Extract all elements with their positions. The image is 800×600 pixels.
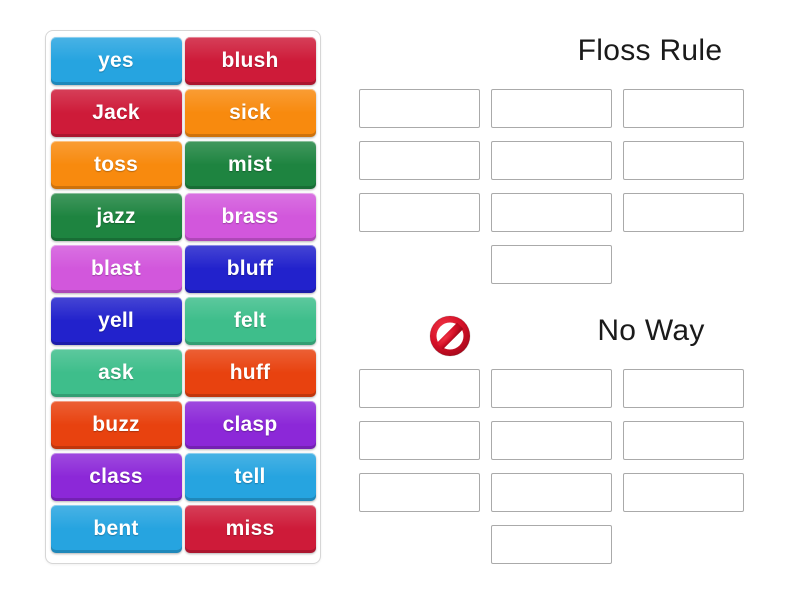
drop-slot-floss-1[interactable] <box>359 89 480 128</box>
word-tile[interactable]: mist <box>185 141 316 189</box>
drop-slot-noway-4[interactable] <box>359 421 480 460</box>
word-tile[interactable]: bent <box>51 505 182 553</box>
word-tile[interactable]: tell <box>185 453 316 501</box>
drop-slot-noway-7[interactable] <box>359 473 480 512</box>
activity-stage: yesblushJacksicktossmistjazzbrassblastbl… <box>0 0 800 600</box>
word-tile[interactable]: miss <box>185 505 316 553</box>
word-tile-label: felt <box>234 309 266 333</box>
drop-slot-floss-5[interactable] <box>491 141 612 180</box>
drop-slot-floss-7[interactable] <box>359 193 480 232</box>
drop-slot-noway-5[interactable] <box>491 421 612 460</box>
word-tile-label: brass <box>221 205 278 229</box>
word-tile-label: yes <box>98 49 134 73</box>
drop-slot-floss-8[interactable] <box>491 193 612 232</box>
word-tile-label: huff <box>230 361 270 385</box>
drop-slot-noway-1[interactable] <box>359 369 480 408</box>
word-tile[interactable]: clasp <box>185 401 316 449</box>
drop-slot-noway-9[interactable] <box>623 473 744 512</box>
word-tile-label: blush <box>222 49 279 73</box>
group-title-floss-rule: Floss Rule <box>400 34 800 68</box>
word-tile-label: buzz <box>92 413 139 437</box>
word-tile[interactable]: class <box>51 453 182 501</box>
group-title-no-way: No Way <box>401 314 800 348</box>
word-tile-label: yell <box>98 309 134 333</box>
word-tile-label: jazz <box>96 205 135 229</box>
drop-slot-floss-6[interactable] <box>623 141 744 180</box>
word-tile-label: class <box>89 465 143 489</box>
word-tile-label: ask <box>98 361 134 385</box>
drop-slot-noway-8[interactable] <box>491 473 612 512</box>
word-tile-label: sick <box>229 101 271 125</box>
drop-slot-floss-9[interactable] <box>623 193 744 232</box>
word-tile[interactable]: buzz <box>51 401 182 449</box>
word-tile-label: miss <box>226 517 275 541</box>
word-tile-label: toss <box>94 153 138 177</box>
word-tiles-tray: yesblushJacksicktossmistjazzbrassblastbl… <box>45 30 321 564</box>
drop-slot-floss-3[interactable] <box>623 89 744 128</box>
word-tile[interactable]: yes <box>51 37 182 85</box>
word-tile[interactable]: sick <box>185 89 316 137</box>
word-tile-label: blast <box>91 257 141 281</box>
word-tile[interactable]: toss <box>51 141 182 189</box>
word-tile[interactable]: Jack <box>51 89 182 137</box>
word-tile[interactable]: felt <box>185 297 316 345</box>
drop-slot-noway-10[interactable] <box>491 525 612 564</box>
drop-slot-floss-4[interactable] <box>359 141 480 180</box>
drop-slot-noway-6[interactable] <box>623 421 744 460</box>
word-tile-label: bent <box>93 517 138 541</box>
drop-slot-floss-10[interactable] <box>491 245 612 284</box>
word-tile-label: clasp <box>223 413 278 437</box>
word-tile-label: mist <box>228 153 272 177</box>
word-tile[interactable]: blush <box>185 37 316 85</box>
word-tile-label: tell <box>234 465 265 489</box>
word-tile[interactable]: yell <box>51 297 182 345</box>
word-tile-grid: yesblushJacksicktossmistjazzbrassblastbl… <box>51 37 315 553</box>
word-tile[interactable]: bluff <box>185 245 316 293</box>
word-tile[interactable]: brass <box>185 193 316 241</box>
drop-slot-noway-2[interactable] <box>491 369 612 408</box>
word-tile-label: bluff <box>227 257 273 281</box>
word-tile[interactable]: ask <box>51 349 182 397</box>
drop-slot-floss-2[interactable] <box>491 89 612 128</box>
word-tile[interactable]: jazz <box>51 193 182 241</box>
drop-slot-noway-3[interactable] <box>623 369 744 408</box>
word-tile[interactable]: huff <box>185 349 316 397</box>
word-tile[interactable]: blast <box>51 245 182 293</box>
word-tile-label: Jack <box>92 101 140 125</box>
